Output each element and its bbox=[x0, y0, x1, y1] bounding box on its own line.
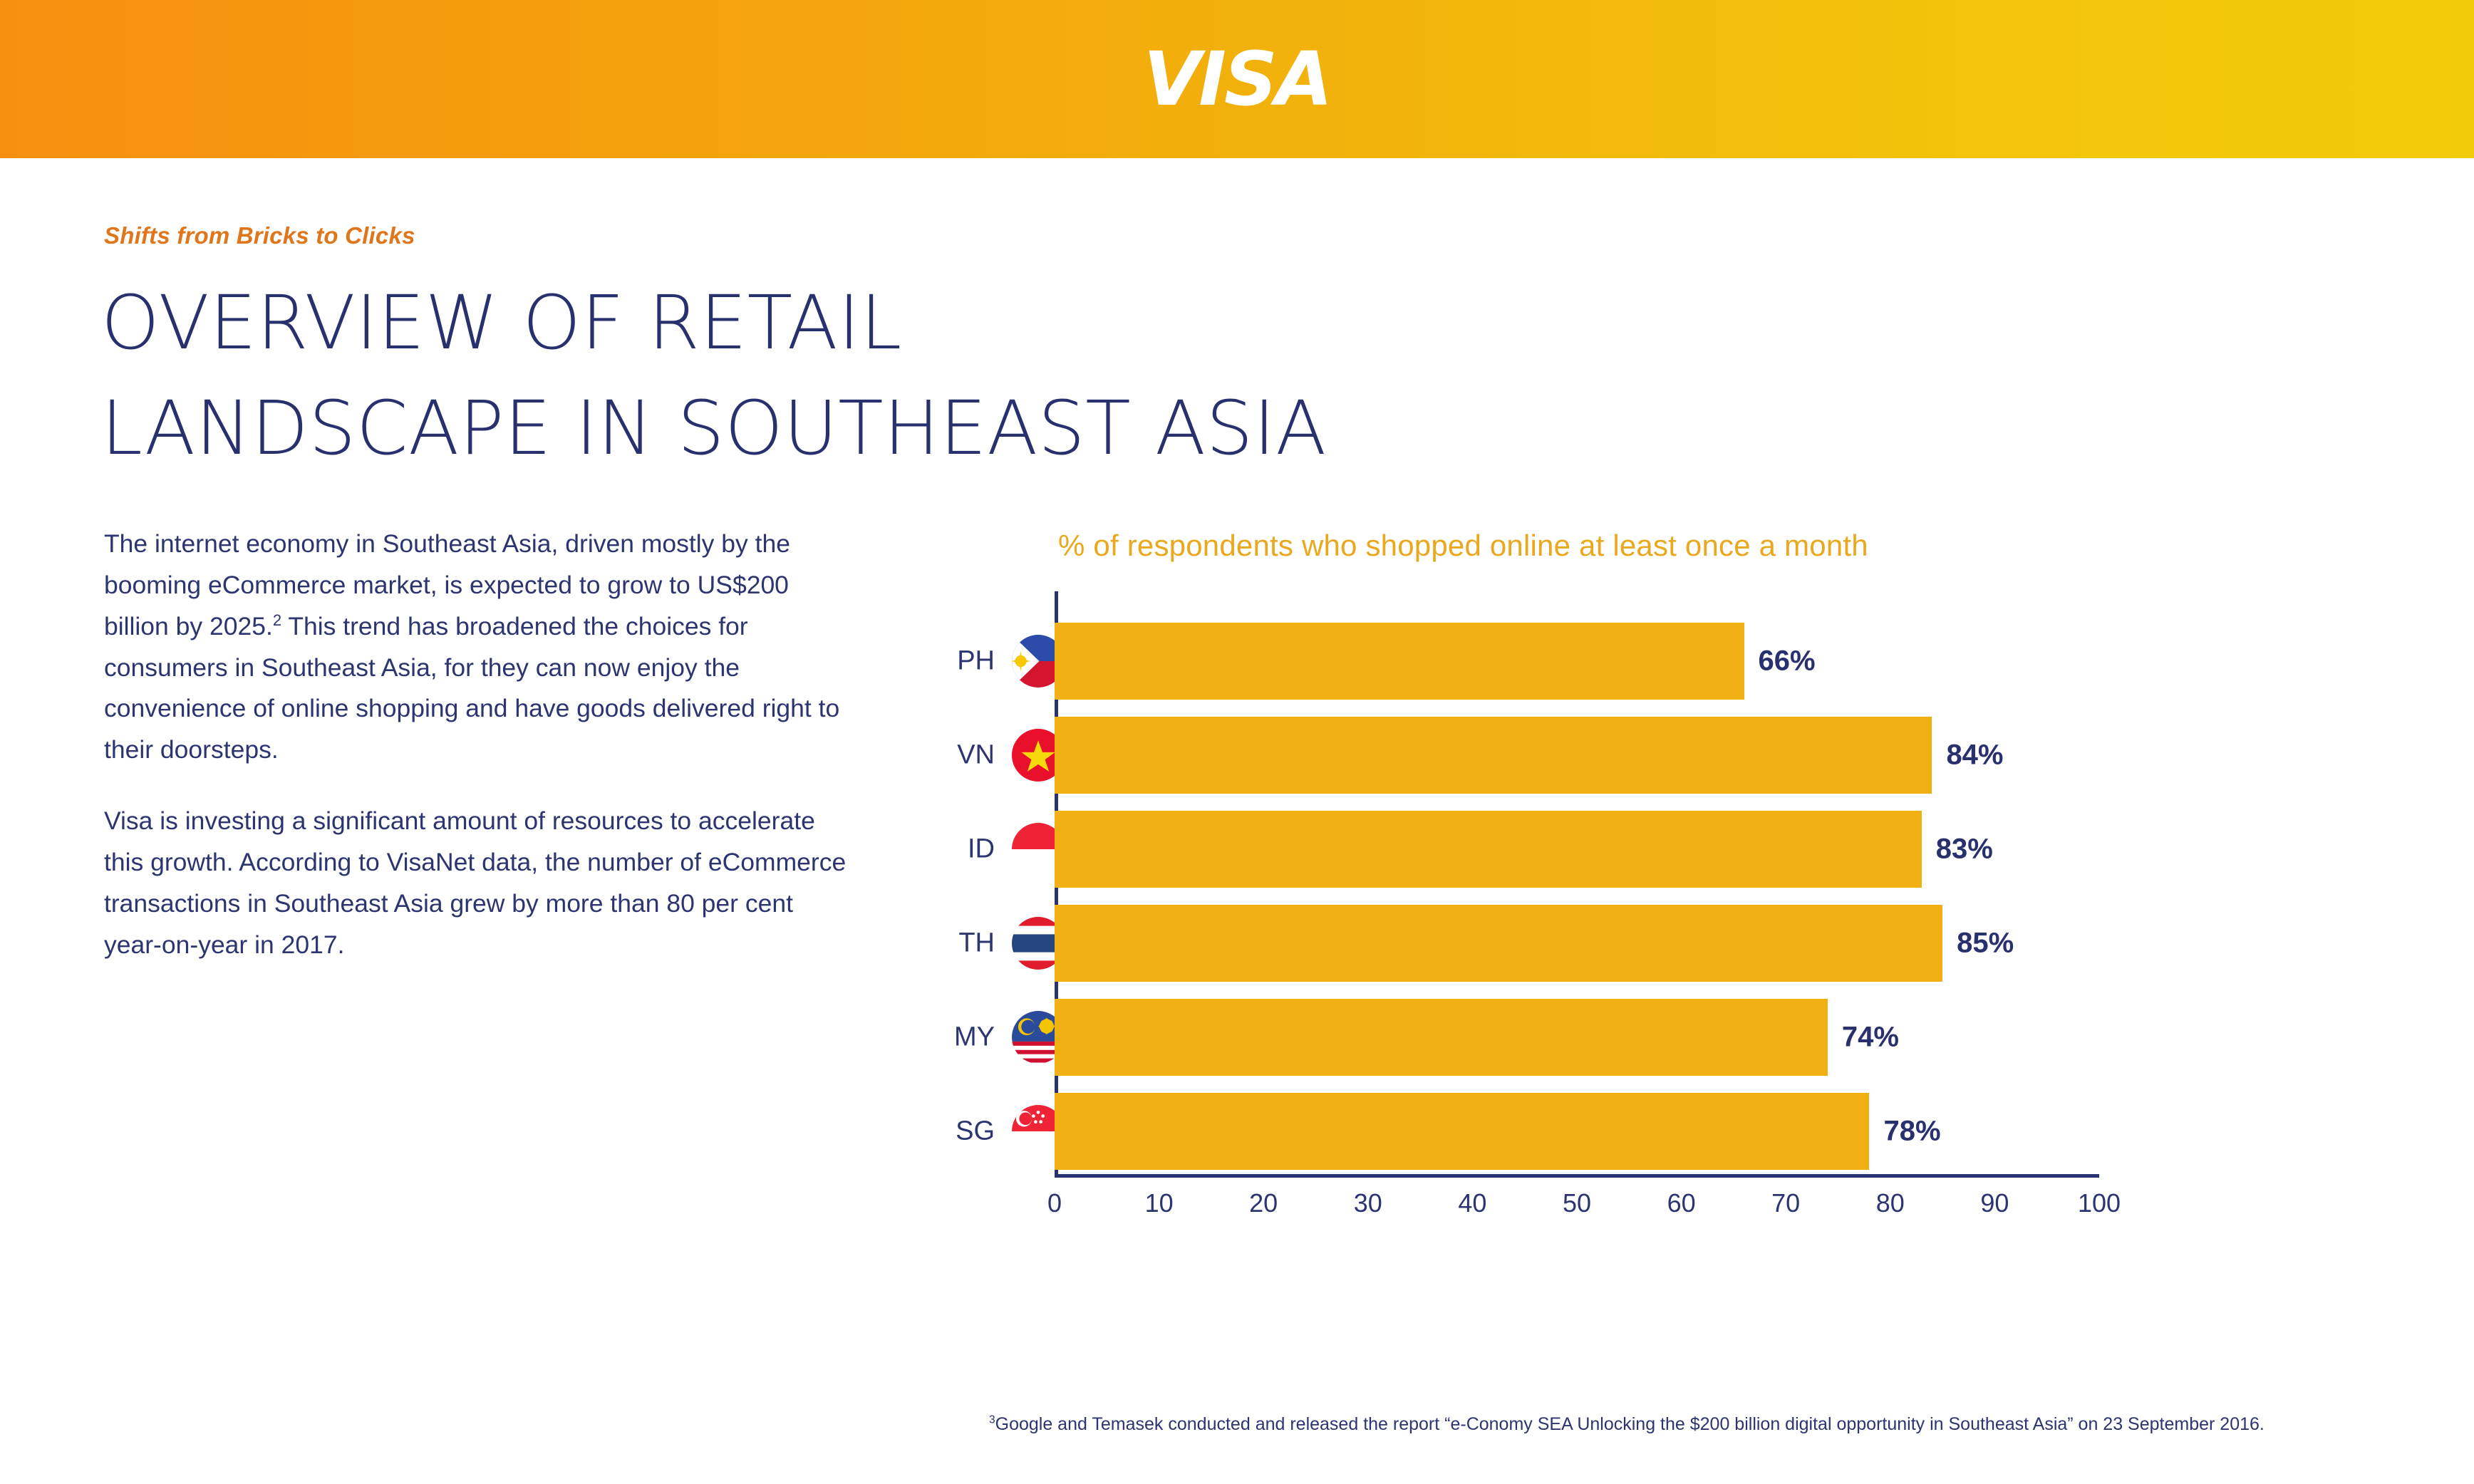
paragraph-1: The internet economy in Southeast Asia, … bbox=[104, 524, 852, 771]
footnote: 3Google and Temasek conducted and releas… bbox=[989, 1414, 2265, 1435]
x-tick-90: 90 bbox=[1980, 1188, 2009, 1218]
bar-value-ph: 66% bbox=[1759, 645, 1816, 678]
x-axis-ticks: 0102030405060708090100 bbox=[1055, 1188, 2099, 1231]
x-tick-60: 60 bbox=[1667, 1188, 1696, 1218]
body-copy: The internet economy in Southeast Asia, … bbox=[104, 524, 852, 966]
bar-th bbox=[1055, 905, 1942, 982]
visa-logo: VISA bbox=[1144, 42, 1331, 116]
footnote-marker: 3 bbox=[989, 1414, 995, 1426]
bar-value-th: 85% bbox=[1957, 928, 2014, 960]
bar-id bbox=[1055, 811, 1922, 888]
page-title-line-2: LANDSCAPE IN SOUTHEAST ASIA bbox=[101, 376, 1669, 482]
bar-row: MY74% bbox=[1055, 999, 2099, 1076]
x-tick-20: 20 bbox=[1249, 1188, 1278, 1218]
bar-category-label-ph: PH bbox=[957, 646, 995, 677]
chart-title: % of respondents who shopped online at l… bbox=[1058, 529, 1868, 563]
bar-sg bbox=[1055, 1093, 1869, 1170]
bar-value-vn: 84% bbox=[1946, 740, 2003, 772]
bar-row: VN84% bbox=[1055, 717, 2099, 794]
bar-ph bbox=[1055, 623, 1744, 700]
x-tick-40: 40 bbox=[1458, 1188, 1486, 1218]
bar-category-label-my: MY bbox=[954, 1022, 995, 1053]
bar-category-label-id: ID bbox=[968, 834, 995, 865]
bar-category-label-th: TH bbox=[958, 928, 995, 959]
bar-row: TH85% bbox=[1055, 905, 2099, 982]
x-tick-80: 80 bbox=[1876, 1188, 1905, 1218]
bar-value-sg: 78% bbox=[1883, 1116, 1940, 1148]
footnote-ref-2: 2 bbox=[273, 611, 281, 629]
bar-row: ID83% bbox=[1055, 811, 2099, 888]
x-tick-100: 100 bbox=[2078, 1188, 2121, 1218]
bar-value-my: 74% bbox=[1842, 1022, 1899, 1054]
bar-row: PH66% bbox=[1055, 623, 2099, 700]
x-tick-70: 70 bbox=[1771, 1188, 1800, 1218]
bar-category-label-vn: VN bbox=[957, 740, 995, 771]
x-tick-10: 10 bbox=[1145, 1188, 1174, 1218]
footnote-text: Google and Temasek conducted and release… bbox=[995, 1414, 2265, 1434]
bar-value-id: 83% bbox=[1936, 834, 1993, 866]
section-eyebrow: Shifts from Bricks to Clicks bbox=[104, 222, 415, 249]
bar-vn bbox=[1055, 717, 1932, 794]
page-title-line-1: OVERVIEW OF RETAIL bbox=[101, 271, 1669, 376]
x-tick-50: 50 bbox=[1563, 1188, 1591, 1218]
page-header: VISA bbox=[0, 0, 2474, 158]
bar-my bbox=[1055, 999, 1828, 1076]
page-title: OVERVIEW OF RETAIL LANDSCAPE IN SOUTHEAS… bbox=[101, 271, 1669, 481]
x-axis-line bbox=[1055, 1174, 2099, 1178]
paragraph-2: Visa is investing a significant amount o… bbox=[104, 801, 852, 965]
x-tick-0: 0 bbox=[1047, 1188, 1062, 1218]
bar-row: SG78% bbox=[1055, 1093, 2099, 1170]
bar-category-label-sg: SG bbox=[956, 1116, 995, 1147]
x-tick-30: 30 bbox=[1354, 1188, 1382, 1218]
bar-chart: PH66%VN84%ID83%TH85%MY74%SG78% 010203040… bbox=[1055, 591, 2102, 1190]
